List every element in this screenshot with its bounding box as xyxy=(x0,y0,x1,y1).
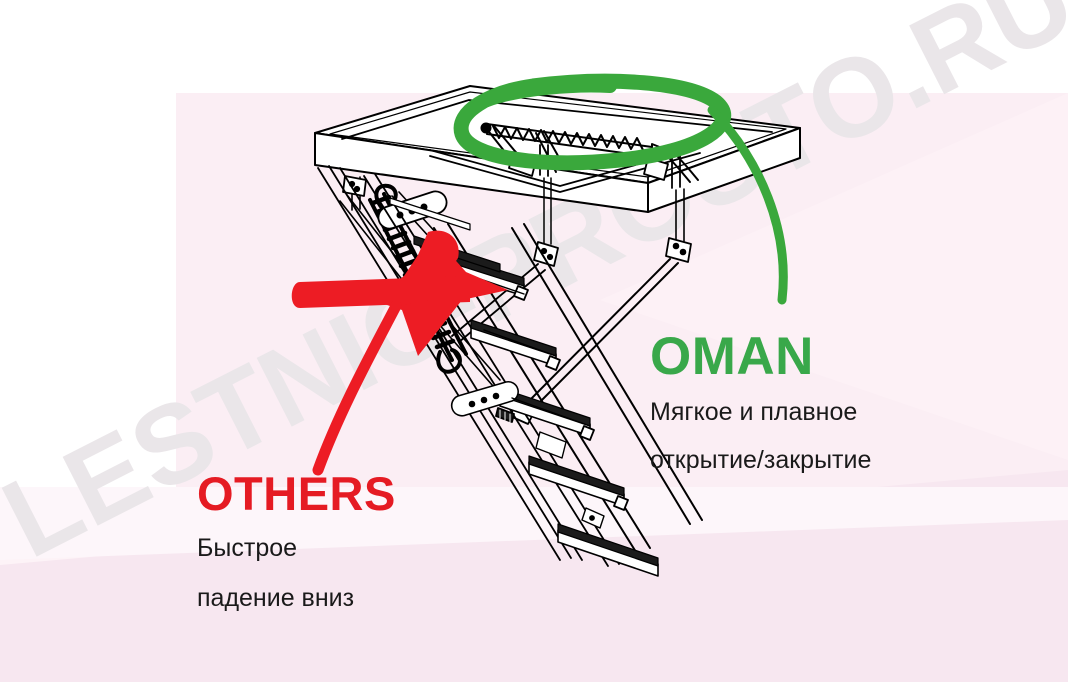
oman-title: OMAN xyxy=(650,330,871,383)
red-arrow-pointing-left-icon xyxy=(292,231,508,470)
oman-description-line-2: открытие/закрытие xyxy=(650,443,871,479)
others-description-line-1: Быстрое xyxy=(197,531,396,567)
callout-oman: OMAN Мягкое и плавное открытие/закрытие xyxy=(650,330,871,478)
others-description-line-2: падение вниз xyxy=(197,581,396,617)
infographic-canvas: LESTNIC-PROSTO.RU xyxy=(0,0,1068,682)
green-ellipse-highlight-icon xyxy=(461,81,783,300)
callout-others: OTHERS Быстрое падение вниз xyxy=(197,470,396,616)
oman-description-line-1: Мягкое и плавное xyxy=(650,395,871,431)
others-title: OTHERS xyxy=(197,470,396,517)
annotation-marks xyxy=(0,0,1068,682)
